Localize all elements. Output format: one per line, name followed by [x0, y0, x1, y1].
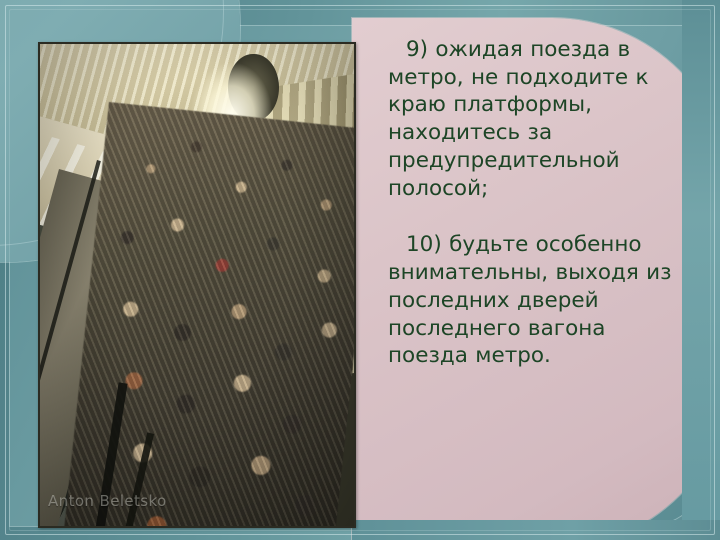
- photo-vignette: [40, 44, 354, 526]
- slide-canvas: Anton Beletsko 9) ожидая поезда в метро,…: [0, 0, 720, 540]
- paragraph-9: 9) ожидая поезда в метро, не подходите к…: [388, 36, 688, 202]
- background-trim-bottom: [352, 520, 720, 540]
- photo-image: Anton Beletsko: [40, 44, 354, 526]
- photo-watermark: Anton Beletsko: [48, 492, 167, 510]
- body-text-column: 9) ожидая поезда в метро, не подходите к…: [388, 36, 688, 370]
- paragraph-10: 10) будьте особенно внимательны, выходя …: [388, 231, 688, 370]
- metro-platform-photo: Anton Beletsko: [38, 42, 356, 528]
